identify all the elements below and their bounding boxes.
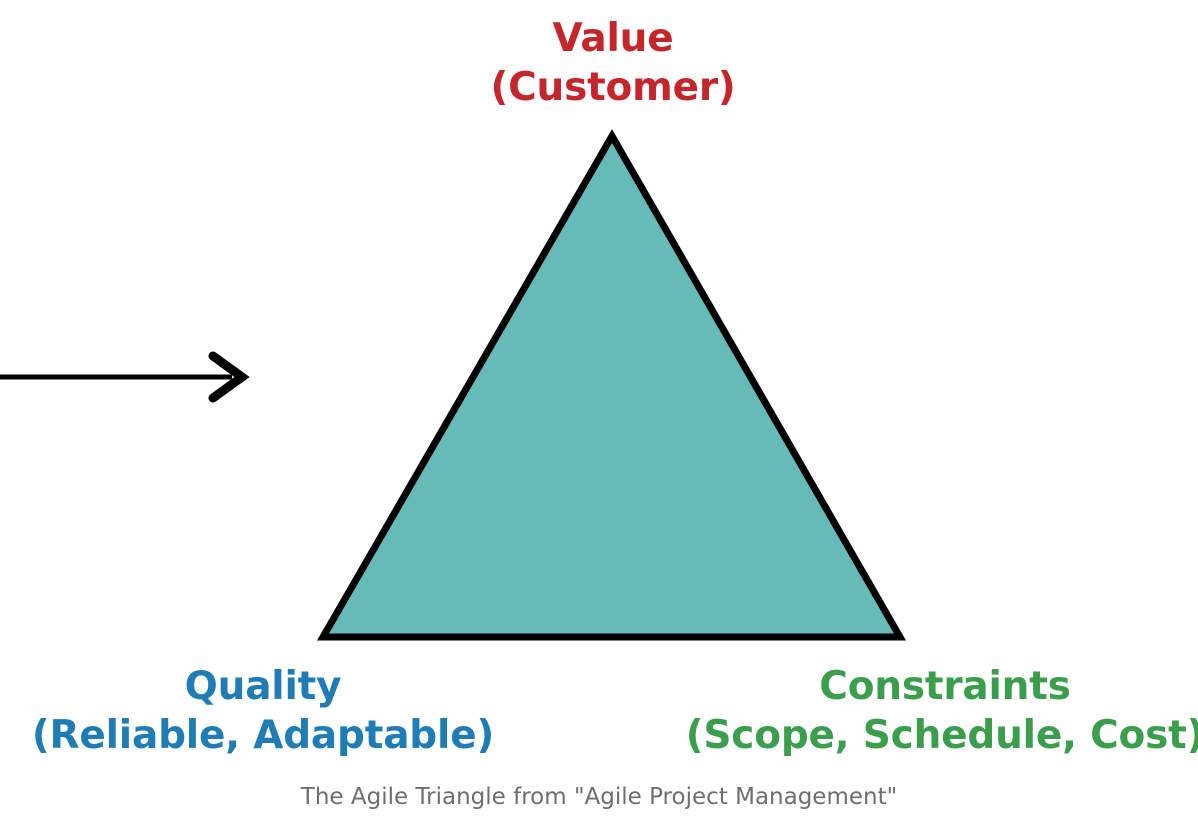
vertex-label-value-line1: Value — [490, 14, 735, 63]
vertex-label-value: Value (Customer) — [490, 14, 735, 112]
vertex-label-quality: Quality (Reliable, Adaptable) — [32, 662, 494, 760]
vertex-label-constraints-line2: (Scope, Schedule, Cost) — [686, 711, 1198, 760]
diagram-canvas: Value (Customer) Quality (Reliable, Adap… — [0, 0, 1198, 826]
vertex-label-value-line2: (Customer) — [490, 63, 735, 112]
diagram-caption: The Agile Triangle from "Agile Project M… — [301, 782, 897, 812]
vertex-label-constraints-line1: Constraints — [686, 662, 1198, 711]
vertex-label-constraints: Constraints (Scope, Schedule, Cost) — [686, 662, 1198, 760]
agile-triangle-shape — [323, 136, 900, 637]
vertex-label-quality-line1: Quality — [32, 662, 494, 711]
incoming-arrow — [0, 356, 242, 398]
vertex-label-quality-line2: (Reliable, Adaptable) — [32, 711, 494, 760]
